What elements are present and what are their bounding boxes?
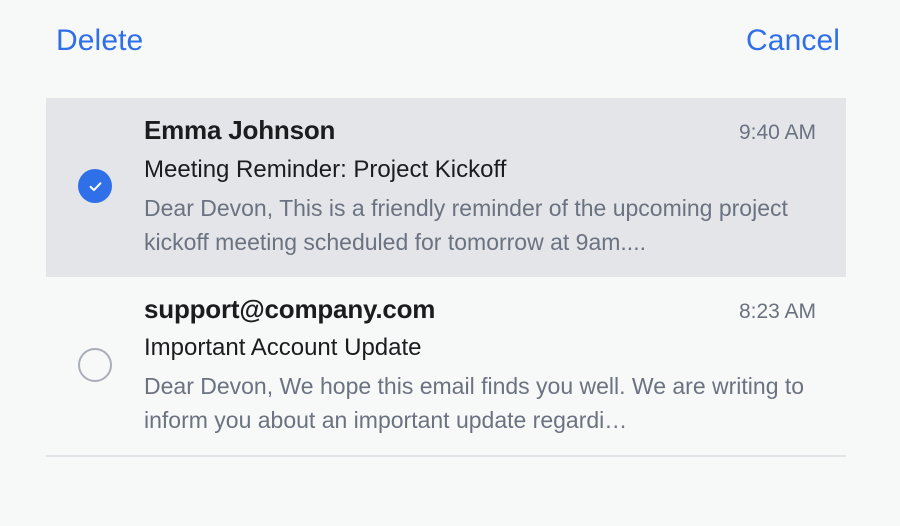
message-header: Emma Johnson 9:40 AM bbox=[144, 114, 844, 147]
selection-checkbox-cell bbox=[46, 169, 144, 203]
cancel-button[interactable]: Cancel bbox=[746, 26, 840, 56]
message-preview: Dear Devon, This is a friendly reminder … bbox=[144, 191, 844, 259]
message-list: Emma Johnson 9:40 AM Meeting Reminder: P… bbox=[0, 98, 900, 457]
message-list-item[interactable]: Emma Johnson 9:40 AM Meeting Reminder: P… bbox=[46, 98, 846, 277]
list-divider bbox=[46, 455, 846, 457]
message-subject: Meeting Reminder: Project Kickoff bbox=[144, 153, 844, 187]
message-timestamp: 8:23 AM bbox=[739, 299, 844, 325]
message-sender: Emma Johnson bbox=[144, 114, 335, 147]
action-toolbar: Delete Cancel bbox=[0, 0, 900, 82]
message-preview: Dear Devon, We hope this email finds you… bbox=[144, 369, 844, 437]
message-sender: support@company.com bbox=[144, 293, 435, 326]
message-header: support@company.com 8:23 AM bbox=[144, 293, 844, 326]
selection-checkbox-cell bbox=[46, 348, 144, 382]
email-selection-screen: Delete Cancel Emma Johnson 9:40 AM Meeti… bbox=[0, 0, 900, 526]
message-subject: Important Account Update bbox=[144, 331, 844, 365]
delete-button[interactable]: Delete bbox=[56, 26, 143, 56]
check-circle-filled-icon[interactable] bbox=[78, 169, 112, 203]
circle-outline-icon[interactable] bbox=[78, 348, 112, 382]
message-content: Emma Johnson 9:40 AM Meeting Reminder: P… bbox=[144, 114, 846, 259]
message-content: support@company.com 8:23 AM Important Ac… bbox=[144, 293, 846, 438]
message-list-item[interactable]: support@company.com 8:23 AM Important Ac… bbox=[46, 277, 846, 456]
message-timestamp: 9:40 AM bbox=[739, 120, 844, 146]
